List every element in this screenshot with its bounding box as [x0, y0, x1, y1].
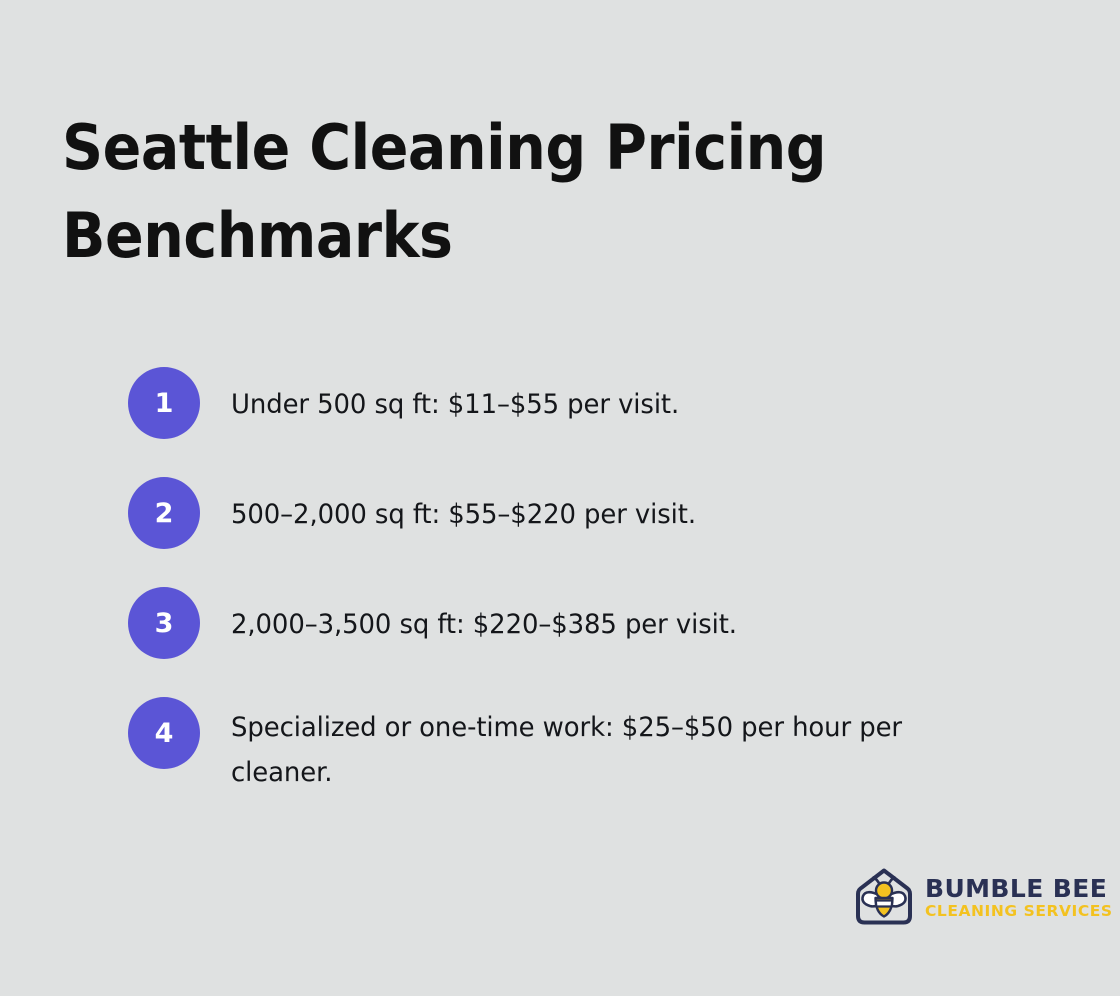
logo-name: BUMBLE BEE — [925, 875, 1113, 902]
list-item-text: 500–2,000 sq ft: $55–$220 per visit. — [231, 477, 975, 537]
bee-in-house-icon — [853, 867, 915, 927]
list-item-text: Specialized or one-time work: $25–$50 pe… — [231, 697, 975, 795]
logo-tagline: CLEANING SERVICES — [925, 902, 1113, 920]
title-block: Seattle Cleaning Pricing Benchmarks — [62, 104, 902, 280]
page-title: Seattle Cleaning Pricing Benchmarks — [62, 104, 835, 280]
list-item-text: 2,000–3,500 sq ft: $220–$385 per visit. — [231, 587, 975, 647]
list-item: 1 Under 500 sq ft: $11–$55 per visit. — [128, 367, 1068, 439]
list-item-text: Under 500 sq ft: $11–$55 per visit. — [231, 367, 975, 427]
list-item-number-badge: 3 — [128, 587, 200, 659]
list-item: 3 2,000–3,500 sq ft: $220–$385 per visit… — [128, 587, 1068, 659]
list-item: 4 Specialized or one-time work: $25–$50 … — [128, 697, 1068, 795]
logo-wordmark: BUMBLE BEE CLEANING SERVICES — [925, 875, 1113, 920]
pricing-benchmark-list: 1 Under 500 sq ft: $11–$55 per visit. 2 … — [128, 367, 1068, 795]
brand-logo: BUMBLE BEE CLEANING SERVICES — [853, 866, 1113, 928]
infographic-canvas: Seattle Cleaning Pricing Benchmarks 1 Un… — [0, 0, 1120, 996]
list-item-number-badge: 1 — [128, 367, 200, 439]
list-item: 2 500–2,000 sq ft: $55–$220 per visit. — [128, 477, 1068, 549]
list-item-number-badge: 4 — [128, 697, 200, 769]
list-item-number-badge: 2 — [128, 477, 200, 549]
